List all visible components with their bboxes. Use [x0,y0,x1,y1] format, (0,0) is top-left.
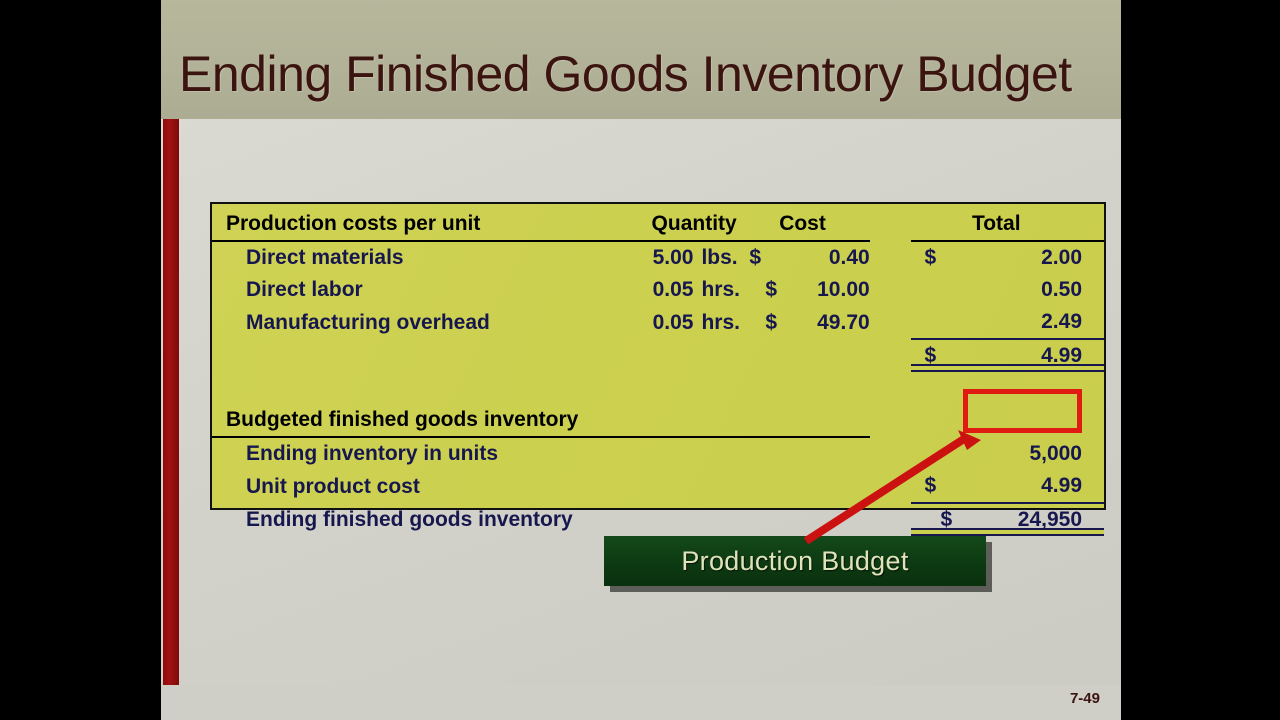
cell-uom: hrs. [693,274,735,306]
table-row: Direct labor 0.05 hrs. $10.00 0.50 [212,274,1104,306]
column-gap [870,503,911,536]
empty-cell [693,339,735,372]
cell-quantity: 0.05 [652,306,694,339]
currency-symbol: $ [925,246,937,270]
cell-cost-value: 10.00 [817,278,870,301]
table-row: Manufacturing overhead 0.05 hrs. $49.70 … [212,306,1104,339]
table-header-row: Production costs per unit Quantity Cost … [212,204,1104,241]
currency-symbol: $ [749,246,761,270]
presentation-slide: Ending Finished Goods Inventory Budget P… [161,0,1121,720]
row-label-direct-materials: Direct materials [212,241,652,274]
callout-label: Production Budget [681,546,908,577]
column-gap [870,204,911,241]
cell-uom: hrs. [693,306,735,339]
column-gap [870,404,911,437]
currency-symbol: $ [765,311,777,335]
header-production-costs-per-unit: Production costs per unit [212,204,652,241]
currency-symbol: $ [925,344,937,368]
row-label-unit-product-cost: Unit product cost [212,470,870,503]
column-gap [870,437,911,470]
column-gap [870,306,911,339]
empty-cell [212,339,652,372]
cell-unit-cost-subtotal: $4.99 [911,339,1104,372]
column-gap [870,274,911,306]
cell-cost-value: 0.40 [829,246,870,269]
cell-total-value: 2.49 [1041,310,1082,333]
spacer-cell [212,372,1104,404]
cell-total: $2.00 [911,241,1104,274]
page-title: Ending Finished Goods Inventory Budget [179,49,1109,99]
slide-number: 7-49 [1070,690,1100,707]
cell-unit-product-cost: $4.99 [911,470,1104,503]
ending-finished-goods-inventory-value: 24,950 [1018,508,1082,531]
cell-cost: $49.70 [735,306,869,339]
column-gap [870,241,911,274]
production-budget-callout[interactable]: Production Budget [604,536,986,586]
header-cost: Cost [735,204,869,241]
cell-total-value: 0.50 [1041,278,1082,301]
inventory-header-row: Budgeted finished goods inventory [212,404,1104,437]
empty-cell [652,339,694,372]
ending-finished-goods-inventory-table: Production costs per unit Quantity Cost … [210,202,1106,510]
cell-ending-finished-goods-inventory: $24,950 [911,503,1104,536]
budget-table: Production costs per unit Quantity Cost … [212,204,1104,536]
cell-uom: lbs. [693,241,735,274]
row-label-ending-inventory-in-units: Ending inventory in units [212,437,870,470]
cell-quantity: 5.00 [652,241,694,274]
header-total: Total [911,204,1104,241]
accent-bar [163,119,179,685]
column-gap [870,339,911,372]
cell-total: 0.50 [911,274,1104,306]
currency-symbol: $ [941,508,953,532]
currency-symbol: $ [765,278,777,302]
empty-cell [735,339,869,372]
empty-cell [911,404,1104,437]
cell-ending-inventory-units: 5,000 [911,437,1104,470]
table-row: Direct materials 5.00 lbs. $0.40 $2.00 [212,241,1104,274]
footer-strip [161,685,1121,720]
ending-inventory-units-value: 5,000 [1029,442,1082,465]
unit-product-cost-value: 4.99 [1041,474,1082,497]
spacer-row [212,372,1104,404]
header-budgeted-finished-goods-inventory: Budgeted finished goods inventory [212,404,870,437]
cell-total-value: 2.00 [1041,246,1082,269]
unit-cost-subtotal-row: $4.99 [212,339,1104,372]
table-row: Ending finished goods inventory $24,950 [212,503,1104,536]
cell-quantity: 0.05 [652,274,694,306]
row-label-manufacturing-overhead: Manufacturing overhead [212,306,652,339]
cell-cost: $10.00 [735,274,869,306]
table-row: Ending inventory in units 5,000 [212,437,1104,470]
title-band: Ending Finished Goods Inventory Budget [161,0,1121,119]
table-row: Unit product cost $4.99 [212,470,1104,503]
cell-cost-value: 49.70 [817,311,870,334]
row-label-ending-finished-goods-inventory: Ending finished goods inventory [212,503,870,536]
header-quantity: Quantity [652,204,736,241]
cell-total: 2.49 [911,306,1104,339]
row-label-direct-labor: Direct labor [212,274,652,306]
slide-viewer: Ending Finished Goods Inventory Budget P… [0,0,1280,720]
cell-cost: $0.40 [735,241,869,274]
subtotal-value: 4.99 [1041,344,1082,367]
currency-symbol: $ [925,474,937,498]
column-gap [870,470,911,503]
